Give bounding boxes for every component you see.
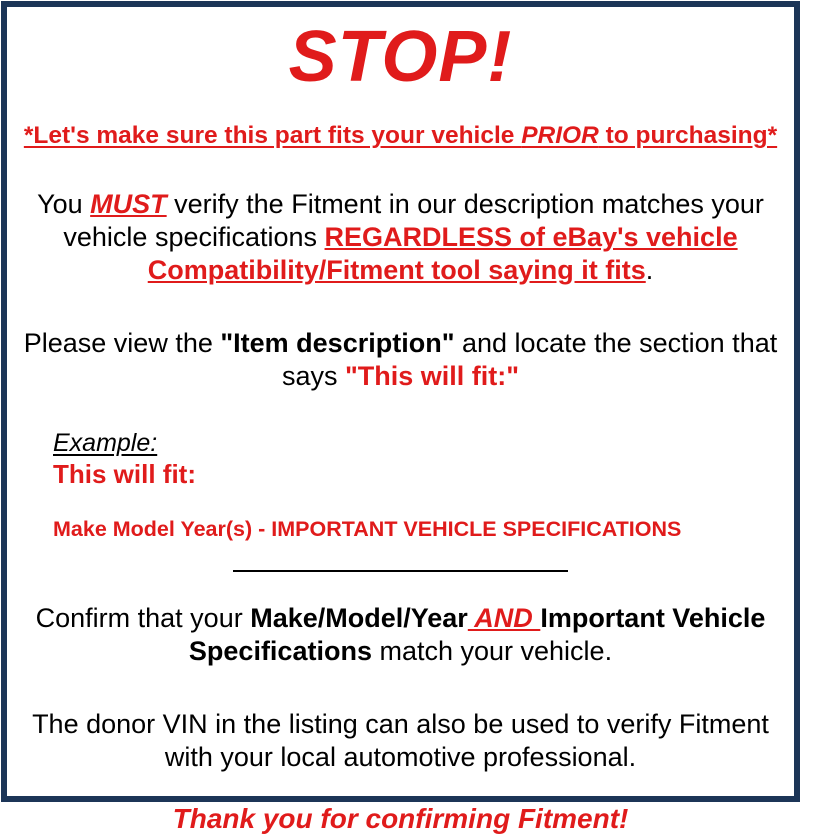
confirm-paragraph: Confirm that your Make/Model/Year AND Im… xyxy=(17,602,784,668)
notice-body: STOP! *Let's make sure this part fits yo… xyxy=(7,21,794,810)
section-divider xyxy=(233,570,568,572)
and-keyword: AND xyxy=(468,603,541,633)
must-seg-1: You xyxy=(37,189,90,219)
this-will-fit-label: "This will fit:" xyxy=(345,361,519,391)
donor-vin-paragraph: The donor VIN in the listing can also be… xyxy=(17,708,784,774)
subhead-line: *Let's make sure this part fits your veh… xyxy=(17,123,784,150)
example-block: Example: This will fit: Make Model Year(… xyxy=(17,429,784,543)
subhead-emphasis-prior: PRIOR xyxy=(521,122,599,149)
subhead-text-before: *Let's make sure this part fits your veh… xyxy=(24,122,521,149)
must-keyword: MUST xyxy=(90,189,167,219)
subhead-text-after: to purchasing* xyxy=(599,122,777,149)
thank-you-line: Thank you for confirming Fitment! xyxy=(17,802,784,836)
example-fit-line: This will fit: xyxy=(53,459,784,490)
view-seg-1: Please view the xyxy=(24,328,221,358)
view-description-paragraph: Please view the "Item description" and l… xyxy=(17,327,784,393)
confirm-seg-1: Confirm that your xyxy=(36,603,251,633)
must-verify-paragraph: You MUST verify the Fitment in our descr… xyxy=(17,188,784,287)
example-label: Example: xyxy=(53,429,157,458)
example-spec-line: Make Model Year(s) - IMPORTANT VEHICLE S… xyxy=(53,517,784,543)
make-model-year-label: Make/Model/Year xyxy=(250,603,468,633)
item-description-label: "Item description" xyxy=(220,328,454,358)
stop-headline: STOP! xyxy=(17,21,784,93)
confirm-seg-5: match your vehicle. xyxy=(372,636,612,666)
fitment-notice-card: STOP! *Let's make sure this part fits yo… xyxy=(1,1,800,802)
must-seg-5: . xyxy=(646,255,654,285)
